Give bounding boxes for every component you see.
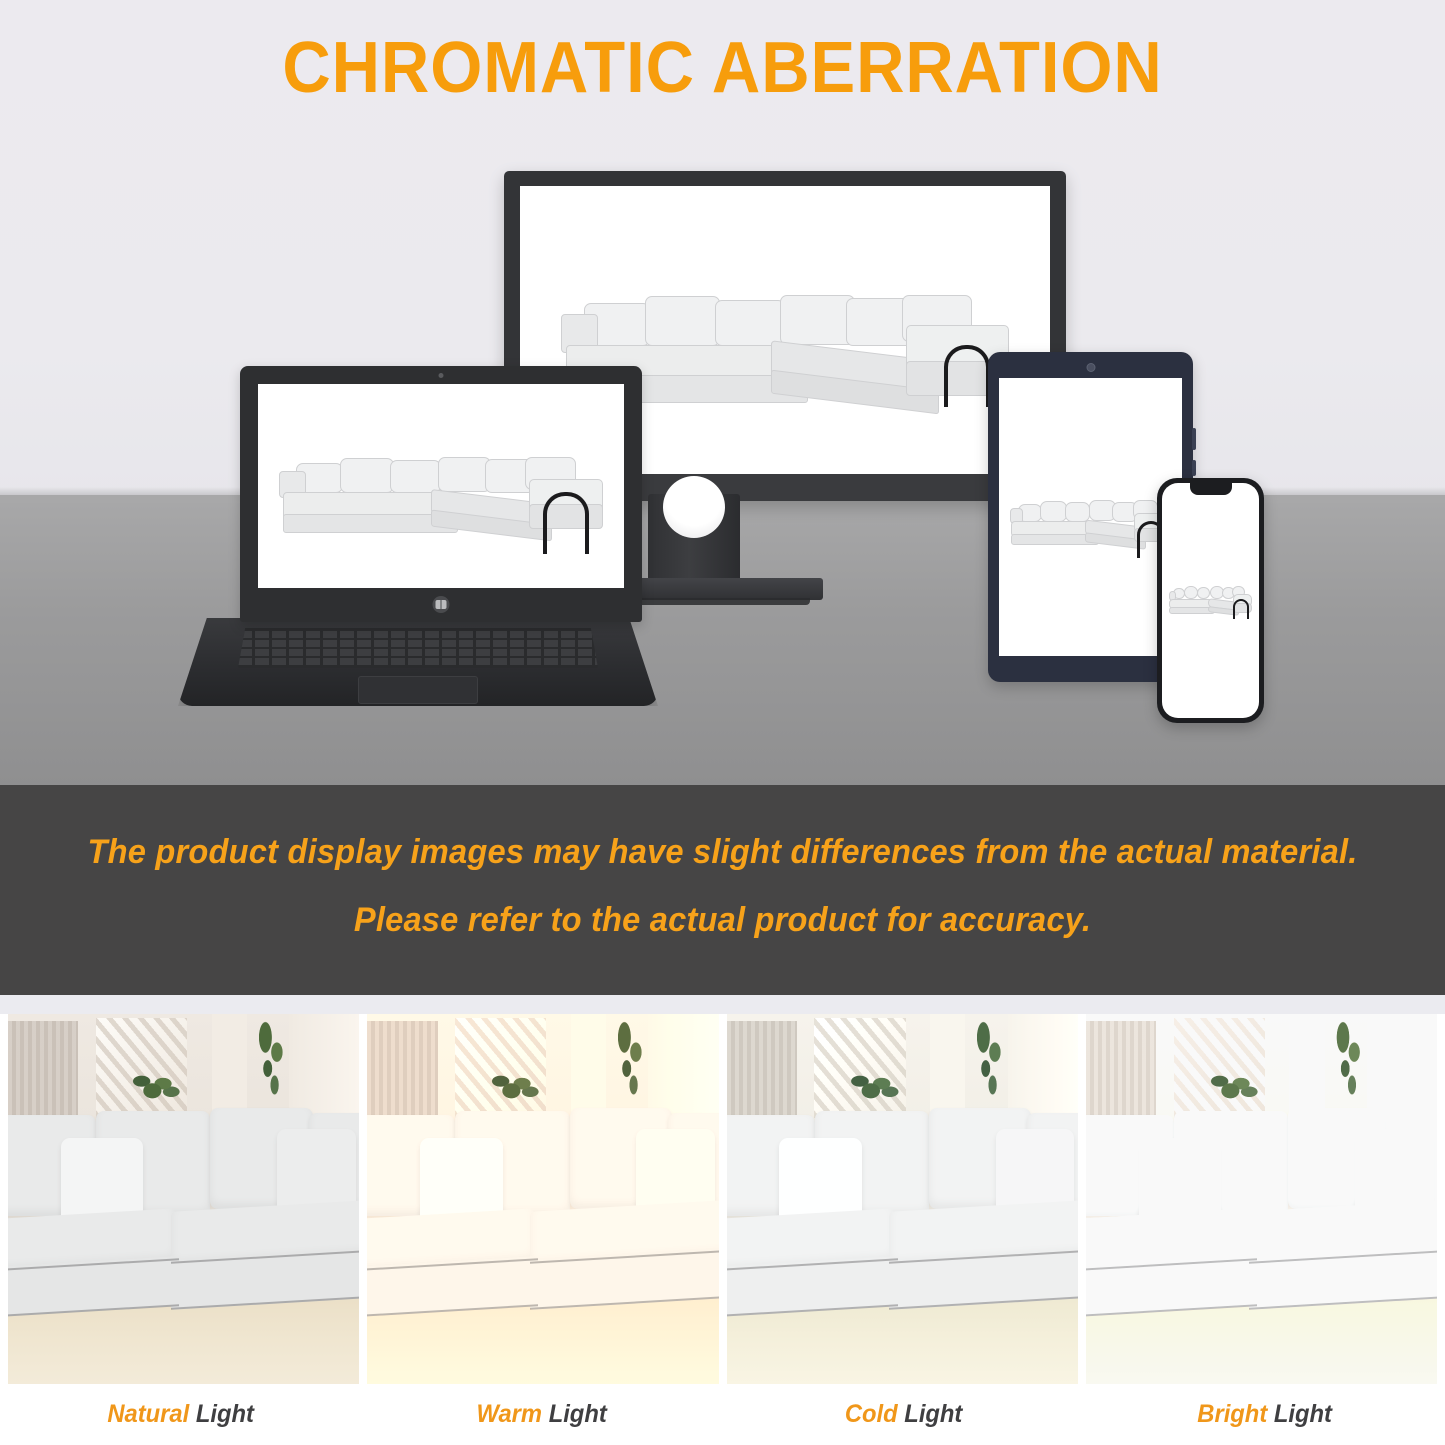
caption-natural: Natural Light [9, 1384, 352, 1445]
caption-accent-word: Natural [107, 1400, 189, 1429]
sofa-photo [367, 1099, 718, 1328]
device-laptop [178, 366, 658, 718]
hanging-plant-icon [965, 1021, 1011, 1102]
hero-section: CHROMATIC ABERRATION [0, 0, 1445, 785]
sofa-hook-icon [1233, 599, 1249, 619]
lighting-caption-row: Natural Light Warm Light Cold Light Brig… [0, 1384, 1445, 1445]
hp-logo-icon [433, 596, 450, 613]
laptop-trackpad [358, 676, 478, 704]
caption-warm: Warm Light [370, 1384, 713, 1445]
monitor-stand-neck [648, 494, 740, 588]
hanging-plant-icon [606, 1021, 652, 1102]
hanging-plant-icon [247, 1021, 293, 1102]
caption-accent-word: Warm [477, 1400, 543, 1429]
disclaimer-band: The product display images may have slig… [0, 785, 1445, 995]
disclaimer-line-2: Please refer to the actual product for a… [29, 901, 1416, 940]
page-title: CHROMATIC ABERRATION [51, 27, 1395, 109]
lighting-sample-bright [1086, 1014, 1437, 1384]
disclaimer-line-1: The product display images may have slig… [29, 833, 1416, 872]
caption-bright: Bright Light [1093, 1384, 1436, 1445]
lighting-sample-cold [727, 1014, 1078, 1384]
caption-word: Light [549, 1400, 607, 1429]
sofa-illustration-laptop [273, 433, 610, 547]
hanging-plant-icon [1325, 1021, 1371, 1102]
sofa-hook-icon [944, 345, 990, 407]
monitor-stand-cutout [663, 476, 725, 538]
tablet-power-button[interactable] [1192, 460, 1196, 476]
sofa-hook-icon [543, 492, 589, 554]
sofa-photo [8, 1099, 359, 1328]
lighting-sample-natural [8, 1014, 359, 1384]
caption-accent-word: Cold [844, 1400, 897, 1429]
sofa-illustration-phone [1167, 577, 1254, 619]
living-room-scene [727, 1014, 1078, 1384]
caption-cold: Cold Light [732, 1384, 1075, 1445]
phone-notch-icon [1190, 483, 1232, 495]
tablet-camera-icon [1086, 363, 1095, 372]
caption-word: Light [1274, 1400, 1332, 1429]
living-room-scene [8, 1014, 359, 1384]
caption-word: Light [196, 1400, 254, 1429]
laptop-webcam-icon [439, 373, 444, 378]
sofa-illustration-tablet [1006, 486, 1174, 553]
sofa-photo [1086, 1099, 1437, 1328]
laptop-lid [240, 366, 642, 622]
phone-screen [1162, 483, 1259, 718]
caption-accent-word: Bright [1197, 1400, 1267, 1429]
laptop-screen [258, 384, 624, 588]
caption-word: Light [904, 1400, 962, 1429]
lighting-sample-warm [367, 1014, 718, 1384]
living-room-scene [367, 1014, 718, 1384]
laptop-keyboard [238, 628, 598, 668]
sofa-photo [727, 1099, 1078, 1328]
device-phone [1157, 478, 1264, 723]
lighting-sample-grid [0, 1014, 1445, 1384]
infographic-page: CHROMATIC ABERRATION [0, 0, 1445, 1445]
tablet-volume-button[interactable] [1192, 428, 1196, 450]
tablet-screen [999, 378, 1182, 656]
living-room-scene [1086, 1014, 1437, 1384]
